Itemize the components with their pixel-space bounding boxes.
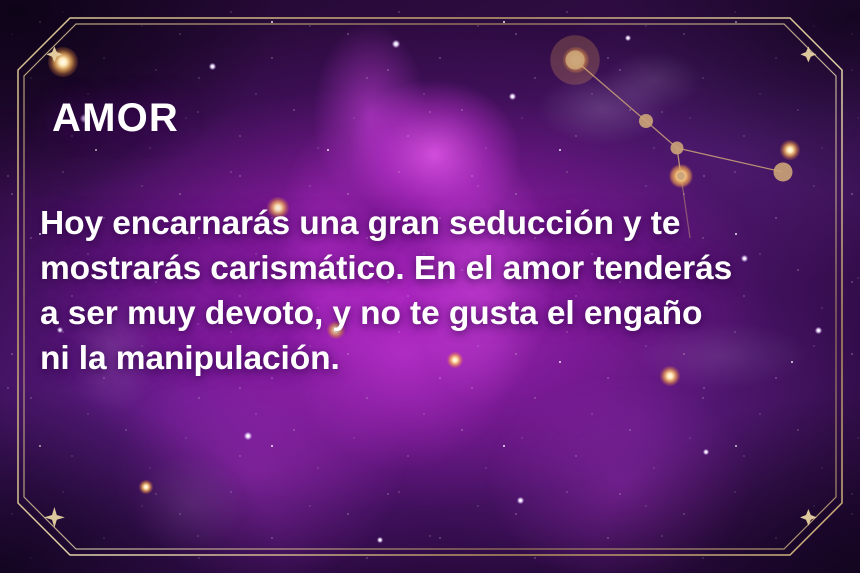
body-text-line: ni la manipulación. [40, 336, 830, 381]
body-text-line: Hoy encarnarás una gran seducción y te [40, 201, 830, 246]
body-text-line: a ser muy devoto, y no te gusta el engañ… [40, 291, 830, 336]
horoscope-body-text: Hoy encarnarás una gran seducción y temo… [40, 201, 830, 381]
horoscope-card: AMOR Hoy encarnarás una gran seducción y… [0, 0, 860, 573]
page-title: AMOR [52, 96, 179, 141]
card-content: AMOR Hoy encarnarás una gran seducción y… [0, 0, 860, 573]
body-text-line: mostrarás carismático. En el amor tender… [40, 246, 830, 291]
